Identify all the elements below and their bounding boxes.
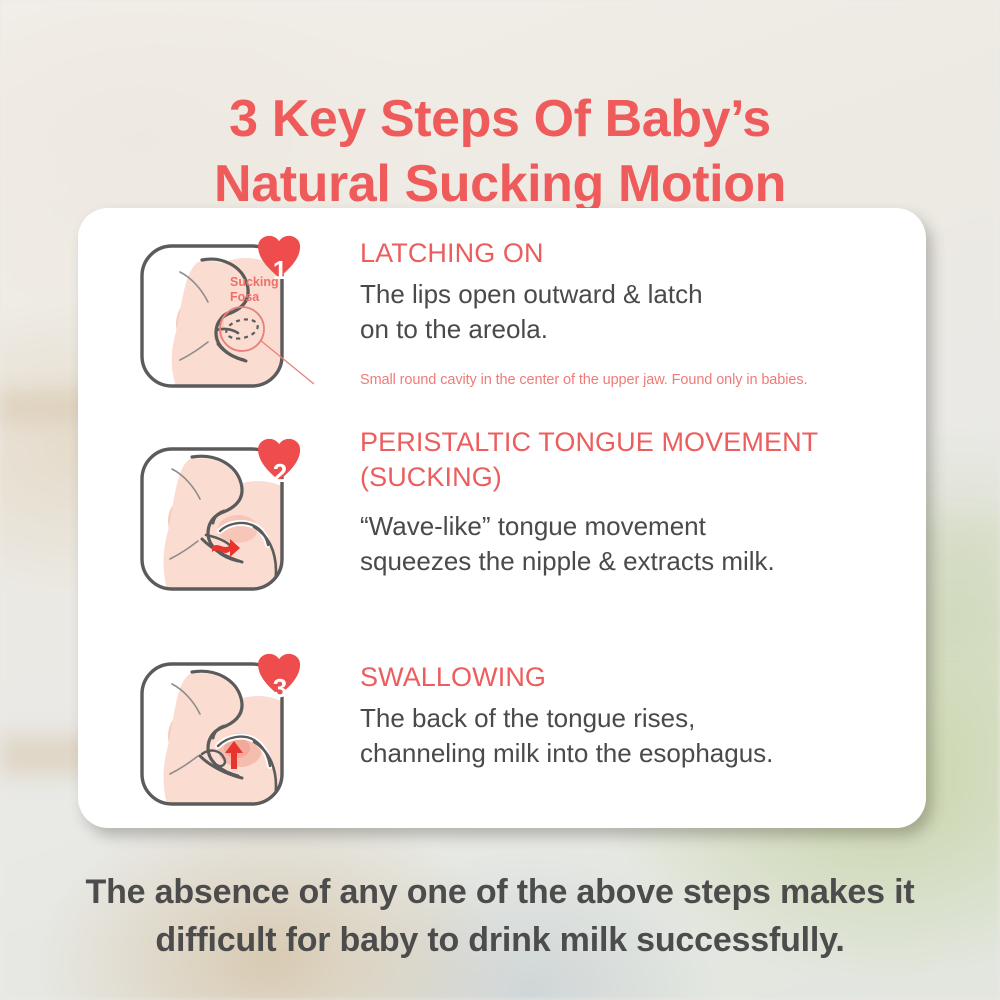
- step-3-badge-number: 3: [273, 673, 287, 703]
- step-3-illustration: 3: [134, 650, 314, 818]
- step-item-3: 3 SWALLOWING The back of the tongue rise…: [78, 636, 926, 836]
- step-2-text: PERISTALTIC TONGUE MOVEMENT (SUCKING) “W…: [360, 425, 900, 579]
- page-title: 3 Key Steps Of Baby’s Natural Sucking Mo…: [0, 87, 1000, 218]
- step-item-1: Sucking Fosa 1 LATCHING ON: [78, 218, 926, 428]
- sucking-fosa-label-line-2: Fosa: [230, 290, 260, 304]
- step-1-footnote: Small round cavity in the center of the …: [360, 372, 905, 389]
- baby-latched-wave-arrow-icon: 2: [134, 435, 314, 603]
- step-1-heading: LATCHING ON: [360, 236, 900, 271]
- steps-card: Sucking Fosa 1 LATCHING ON: [78, 208, 926, 828]
- step-1-badge-number: 1: [273, 255, 287, 285]
- step-3-text: SWALLOWING The back of the tongue rises,…: [360, 660, 900, 771]
- step-item-2: 2 PERISTALTIC TONGUE MOVEMENT (SUCKING) …: [78, 421, 926, 639]
- bottom-caption: The absence of any one of the above step…: [0, 868, 1000, 965]
- page-title-line-1: 3 Key Steps Of Baby’s: [229, 90, 771, 148]
- step-2-badge-number: 2: [273, 458, 287, 488]
- step-2-illustration: 2: [134, 435, 314, 603]
- step-1-body: The lips open outward & latch on to the …: [360, 277, 900, 347]
- step-2-body: “Wave-like” tongue movement squeezes the…: [360, 509, 900, 579]
- bottom-caption-line-1: The absence of any one of the above step…: [86, 873, 915, 911]
- step-1-text: LATCHING ON The lips open outward & latc…: [360, 236, 900, 347]
- baby-head-sucking-fosa-icon: Sucking Fosa 1: [134, 232, 314, 400]
- steps-list: Sucking Fosa 1 LATCHING ON: [78, 208, 926, 828]
- infographic-stage: 3 Key Steps Of Baby’s Natural Sucking Mo…: [0, 0, 1000, 1000]
- step-2-heading: PERISTALTIC TONGUE MOVEMENT (SUCKING): [360, 425, 900, 495]
- step-1-illustration: Sucking Fosa 1: [134, 232, 314, 400]
- bottom-caption-line-2: difficult for baby to drink milk success…: [0, 916, 1000, 964]
- step-3-body: The back of the tongue rises, channeling…: [360, 701, 900, 771]
- sucking-fosa-label-line-1: Sucking: [230, 275, 279, 289]
- baby-latched-up-arrow-icon: 3: [134, 650, 314, 818]
- step-3-heading: SWALLOWING: [360, 660, 900, 695]
